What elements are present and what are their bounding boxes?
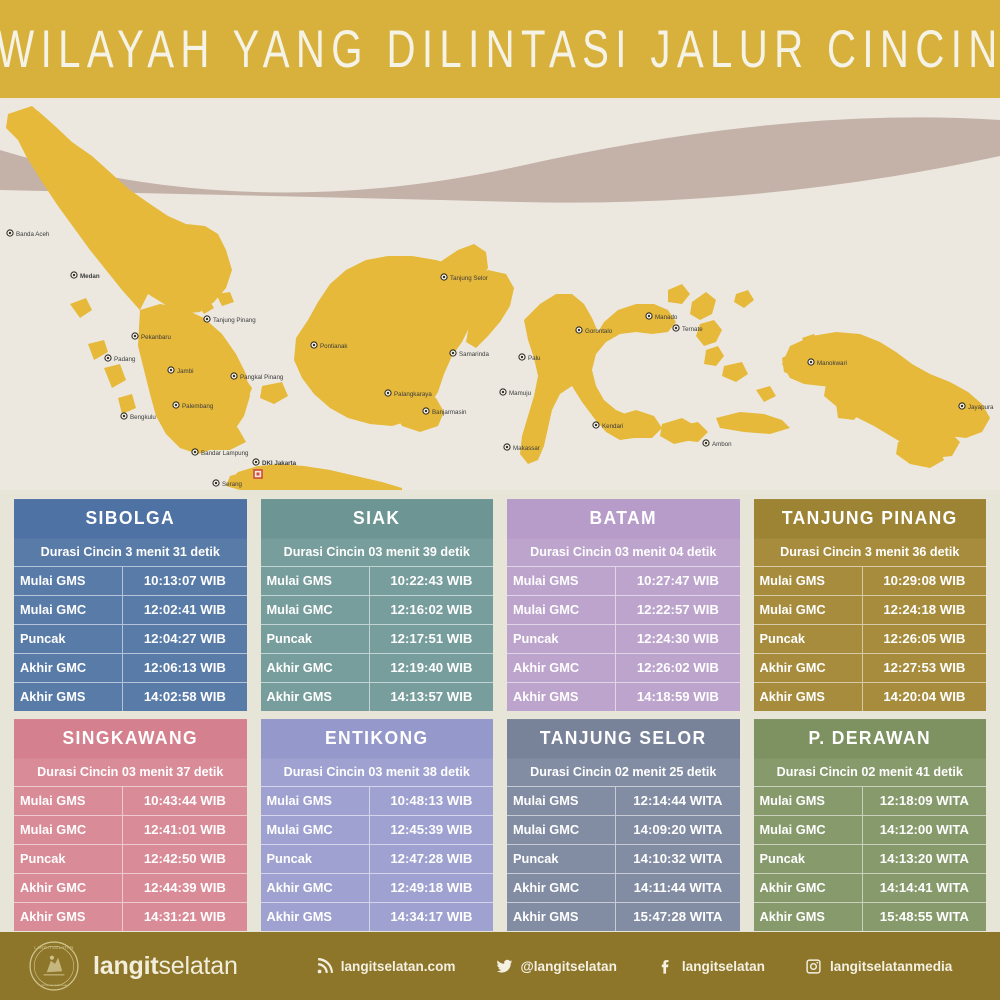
row-value: 14:13:20 WITA — [863, 845, 986, 873]
city-label: Jayapura — [968, 404, 994, 411]
city-marker — [519, 354, 525, 360]
city-marker — [121, 413, 127, 419]
row-label: Akhir GMS — [507, 903, 616, 931]
row-value: 14:11:44 WITA — [616, 874, 739, 902]
row-value: 10:29:08 WIB — [863, 567, 986, 595]
svg-text:Astronomi Indonesia: Astronomi Indonesia — [41, 983, 67, 987]
timing-card: P. DERAWANDurasi Cincin 02 menit 41 deti… — [754, 720, 987, 931]
row-value: 12:06:13 WIB — [123, 654, 246, 682]
table-row: Mulai GMC12:22:57 WIB — [507, 595, 740, 624]
city-label: Palu — [528, 355, 541, 362]
rss-icon — [316, 958, 333, 975]
table-row: Akhir GMC14:14:41 WITA — [754, 873, 987, 902]
row-value: 10:13:07 WIB — [123, 567, 246, 595]
table-row: Mulai GMS10:29:08 WIB — [754, 566, 987, 595]
city-label: Pangkal Pinang — [240, 374, 284, 381]
city-label: Palembang — [182, 403, 214, 410]
row-value: 12:24:30 WIB — [616, 625, 739, 653]
row-label: Mulai GMC — [507, 816, 616, 844]
row-value: 12:26:02 WIB — [616, 654, 739, 682]
table-row: Puncak14:13:20 WITA — [754, 844, 987, 873]
card-city-title: TANJUNG PINANG — [754, 499, 987, 539]
table-row: Mulai GMS10:13:07 WIB — [14, 566, 247, 595]
row-value: 10:43:44 WIB — [123, 787, 246, 815]
table-row: Akhir GMS14:31:21 WIB — [14, 902, 247, 931]
timing-card: ENTIKONGDurasi Cincin 03 menit 38 detikM… — [261, 720, 494, 931]
social-link[interactable]: langitselatan.com — [316, 958, 456, 975]
table-row: Mulai GMC12:16:02 WIB — [261, 595, 494, 624]
city-marker — [311, 342, 317, 348]
row-label: Mulai GMS — [261, 787, 370, 815]
facebook-icon — [657, 958, 674, 975]
city-label: Samarinda — [459, 351, 489, 358]
table-row: Akhir GMS14:13:57 WIB — [261, 682, 494, 711]
table-row: Puncak14:10:32 WITA — [507, 844, 740, 873]
social-link-label: langitselatan.com — [341, 959, 456, 974]
city-marker — [71, 272, 77, 278]
city-marker — [192, 449, 198, 455]
row-value: 12:45:39 WIB — [370, 816, 493, 844]
table-row: Mulai GMS10:22:43 WIB — [261, 566, 494, 595]
table-row: Akhir GMC12:06:13 WIB — [14, 653, 247, 682]
row-label: Akhir GMS — [14, 903, 123, 931]
row-label: Akhir GMC — [14, 654, 123, 682]
city-marker — [504, 444, 510, 450]
table-row: Puncak12:47:28 WIB — [261, 844, 494, 873]
table-row: Akhir GMS14:18:59 WIB — [507, 682, 740, 711]
row-value: 12:26:05 WIB — [863, 625, 986, 653]
row-label: Akhir GMC — [507, 874, 616, 902]
card-city-title: SIAK — [261, 499, 494, 539]
row-value: 10:27:47 WIB — [616, 567, 739, 595]
city-label: Palangkaraya — [394, 391, 432, 398]
row-label: Puncak — [261, 625, 370, 653]
row-label: Puncak — [14, 845, 123, 873]
card-city-title: P. DERAWAN — [754, 719, 987, 759]
city-label: Makassar — [513, 445, 540, 452]
row-label: Mulai GMC — [507, 596, 616, 624]
row-label: Akhir GMS — [754, 683, 863, 711]
city-label: Tanjung Pinang — [213, 317, 256, 324]
row-label: Mulai GMC — [14, 816, 123, 844]
city-marker — [500, 389, 506, 395]
row-value: 12:41:01 WIB — [123, 816, 246, 844]
table-row: Akhir GMS15:47:28 WITA — [507, 902, 740, 931]
table-row: Puncak12:24:30 WIB — [507, 624, 740, 653]
city-label: Ambon — [712, 441, 732, 448]
city-label: Serang — [222, 481, 243, 488]
city-marker — [703, 440, 709, 446]
row-value: 12:44:39 WIB — [123, 874, 246, 902]
row-value: 12:04:27 WIB — [123, 625, 246, 653]
row-label: Mulai GMC — [261, 816, 370, 844]
row-label: Akhir GMS — [261, 903, 370, 931]
card-city-title: SINGKAWANG — [14, 719, 247, 759]
timing-card: BATAMDurasi Cincin 03 menit 04 detikMula… — [507, 500, 740, 711]
table-row: Mulai GMS12:18:09 WITA — [754, 786, 987, 815]
table-row: Akhir GMS15:48:55 WITA — [754, 902, 987, 931]
table-row: Mulai GMC12:45:39 WIB — [261, 815, 494, 844]
city-marker — [450, 350, 456, 356]
row-value: 15:47:28 WITA — [616, 903, 739, 931]
social-link-label: langitselatanmedia — [830, 959, 952, 974]
table-row: Mulai GMC12:41:01 WIB — [14, 815, 247, 844]
row-label: Akhir GMC — [754, 874, 863, 902]
row-value: 12:42:50 WIB — [123, 845, 246, 873]
card-city-title: BATAM — [507, 499, 740, 539]
row-label: Akhir GMC — [261, 654, 370, 682]
city-marker — [105, 355, 111, 361]
table-row: Akhir GMS14:34:17 WIB — [261, 902, 494, 931]
row-value: 10:48:13 WIB — [370, 787, 493, 815]
row-label: Puncak — [14, 625, 123, 653]
city-label: Medan — [80, 273, 100, 280]
social-link[interactable]: langitselatan — [657, 958, 765, 975]
row-value: 12:17:51 WIB — [370, 625, 493, 653]
timing-card: TANJUNG SELORDurasi Cincin 02 menit 25 d… — [507, 720, 740, 931]
timing-card: SIAKDurasi Cincin 03 menit 39 detikMulai… — [261, 500, 494, 711]
social-link-label: langitselatan — [682, 959, 765, 974]
card-duration: Durasi Cincin 03 menit 39 detik — [261, 538, 494, 566]
row-value: 15:48:55 WITA — [863, 903, 986, 931]
timing-card: TANJUNG PINANGDurasi Cincin 3 menit 36 d… — [754, 500, 987, 711]
table-row: Akhir GMC12:19:40 WIB — [261, 653, 494, 682]
row-label: Puncak — [261, 845, 370, 873]
city-marker — [7, 230, 13, 236]
table-row: Akhir GMS14:02:58 WIB — [14, 682, 247, 711]
row-label: Akhir GMC — [261, 874, 370, 902]
twitter-icon — [496, 958, 513, 975]
brand-light: selatan — [158, 952, 237, 980]
card-duration: Durasi Cincin 02 menit 25 detik — [507, 758, 740, 786]
row-label: Puncak — [507, 625, 616, 653]
card-duration: Durasi Cincin 03 menit 37 detik — [14, 758, 247, 786]
table-row: Puncak12:17:51 WIB — [261, 624, 494, 653]
brand-block: LANGITSELATAN Astronomi Indonesia langit… — [28, 940, 238, 992]
table-row: Puncak12:26:05 WIB — [754, 624, 987, 653]
row-value: 12:47:28 WIB — [370, 845, 493, 873]
city-marker — [132, 333, 138, 339]
row-value: 12:19:40 WIB — [370, 654, 493, 682]
row-value: 12:24:18 WIB — [863, 596, 986, 624]
row-value: 14:10:32 WITA — [616, 845, 739, 873]
row-value: 12:02:41 WIB — [123, 596, 246, 624]
row-label: Akhir GMC — [14, 874, 123, 902]
city-label: Kendari — [602, 423, 623, 430]
row-label: Akhir GMS — [261, 683, 370, 711]
city-marker — [646, 313, 652, 319]
timing-card: SIBOLGADurasi Cincin 3 menit 31 detikMul… — [14, 500, 247, 711]
brand-wordmark: langitselatan — [93, 952, 238, 981]
city-marker — [204, 316, 210, 322]
table-row: Mulai GMC14:09:20 WITA — [507, 815, 740, 844]
city-marker — [253, 459, 259, 465]
row-value: 14:02:58 WIB — [123, 683, 246, 711]
card-duration: Durasi Cincin 3 menit 31 detik — [14, 538, 247, 566]
row-label: Mulai GMS — [507, 787, 616, 815]
table-row: Mulai GMS10:43:44 WIB — [14, 786, 247, 815]
infographic-page: WILAYAH YANG DILINTASI JALUR CINCIN — [0, 0, 1000, 1000]
indonesia-map: Banda AcehMedanPekanbaruPadangJambiBengk… — [0, 98, 1000, 490]
social-link[interactable]: langitselatanmedia — [805, 958, 952, 975]
row-label: Mulai GMS — [507, 567, 616, 595]
table-row: Akhir GMC12:27:53 WIB — [754, 653, 987, 682]
row-value: 14:09:20 WITA — [616, 816, 739, 844]
table-row: Akhir GMC12:49:18 WIB — [261, 873, 494, 902]
city-label: Bandar Lampung — [201, 450, 249, 457]
city-label: Pekanbaru — [141, 334, 171, 341]
city-label: Mamuju — [509, 390, 532, 397]
map-panel: Banda AcehMedanPekanbaruPadangJambiBengk… — [0, 98, 1000, 490]
langitselatan-seal-icon: LANGITSELATAN Astronomi Indonesia — [28, 940, 80, 992]
city-label: Ternate — [682, 326, 703, 333]
row-value: 12:14:44 WITA — [616, 787, 739, 815]
row-value: 14:34:17 WIB — [370, 903, 493, 931]
row-label: Mulai GMS — [754, 787, 863, 815]
city-label: Manokwari — [817, 360, 847, 367]
row-label: Akhir GMS — [14, 683, 123, 711]
svg-text:LANGITSELATAN: LANGITSELATAN — [34, 945, 73, 950]
row-value: 10:22:43 WIB — [370, 567, 493, 595]
page-title: WILAYAH YANG DILINTASI JALUR CINCIN — [0, 19, 1000, 79]
card-duration: Durasi Cincin 3 menit 36 detik — [754, 538, 987, 566]
city-marker — [231, 373, 237, 379]
row-label: Akhir GMC — [754, 654, 863, 682]
row-label: Akhir GMS — [507, 683, 616, 711]
city-marker — [423, 408, 429, 414]
table-row: Akhir GMC12:26:02 WIB — [507, 653, 740, 682]
row-label: Mulai GMC — [261, 596, 370, 624]
city-label: Banda Aceh — [16, 231, 50, 238]
row-label: Mulai GMS — [754, 567, 863, 595]
title-bar: WILAYAH YANG DILINTASI JALUR CINCIN — [0, 0, 1000, 98]
table-row: Akhir GMS14:20:04 WIB — [754, 682, 987, 711]
card-duration: Durasi Cincin 03 menit 04 detik — [507, 538, 740, 566]
row-value: 14:13:57 WIB — [370, 683, 493, 711]
row-value: 14:14:41 WITA — [863, 874, 986, 902]
row-label: Mulai GMS — [14, 787, 123, 815]
row-value: 12:49:18 WIB — [370, 874, 493, 902]
city-label: DKI Jakarta — [262, 460, 297, 467]
city-label: Padang — [114, 356, 136, 363]
city-label: Jambi — [177, 368, 194, 375]
table-row: Akhir GMC12:44:39 WIB — [14, 873, 247, 902]
city-marker — [441, 274, 447, 280]
row-value: 14:20:04 WIB — [863, 683, 986, 711]
city-label: Bengkulu — [130, 414, 156, 421]
capital-marker-dot — [257, 473, 260, 476]
card-duration: Durasi Cincin 03 menit 38 detik — [261, 758, 494, 786]
row-label: Akhir GMS — [754, 903, 863, 931]
row-value: 14:12:00 WITA — [863, 816, 986, 844]
instagram-icon — [805, 958, 822, 975]
table-row: Mulai GMS12:14:44 WITA — [507, 786, 740, 815]
row-label: Mulai GMC — [14, 596, 123, 624]
brand-bold: langit — [93, 952, 158, 980]
table-row: Puncak12:42:50 WIB — [14, 844, 247, 873]
social-link-label: @langitselatan — [521, 959, 617, 974]
city-marker — [168, 367, 174, 373]
city-timing-cards: SIBOLGADurasi Cincin 3 menit 31 detikMul… — [0, 500, 1000, 931]
row-label: Puncak — [754, 625, 863, 653]
row-value: 12:16:02 WIB — [370, 596, 493, 624]
row-label: Akhir GMC — [507, 654, 616, 682]
footer-bar: LANGITSELATAN Astronomi Indonesia langit… — [0, 932, 1000, 1000]
city-marker — [173, 402, 179, 408]
city-marker — [576, 327, 582, 333]
table-row: Mulai GMC14:12:00 WITA — [754, 815, 987, 844]
table-row: Mulai GMC12:24:18 WIB — [754, 595, 987, 624]
row-label: Mulai GMC — [754, 816, 863, 844]
city-label: Manado — [655, 314, 678, 321]
table-row: Mulai GMC12:02:41 WIB — [14, 595, 247, 624]
row-label: Puncak — [754, 845, 863, 873]
row-value: 12:22:57 WIB — [616, 596, 739, 624]
table-row: Mulai GMS10:48:13 WIB — [261, 786, 494, 815]
row-label: Mulai GMS — [14, 567, 123, 595]
row-value: 14:18:59 WIB — [616, 683, 739, 711]
city-marker — [808, 359, 814, 365]
city-marker — [673, 325, 679, 331]
city-label: Pontianak — [320, 343, 348, 350]
card-duration: Durasi Cincin 02 menit 41 detik — [754, 758, 987, 786]
city-marker — [385, 390, 391, 396]
city-label: Tanjung Selor — [450, 275, 488, 282]
row-value: 12:18:09 WITA — [863, 787, 986, 815]
row-value: 14:31:21 WIB — [123, 903, 246, 931]
row-label: Mulai GMS — [261, 567, 370, 595]
city-label: Banjarmasin — [432, 409, 467, 416]
row-value: 12:27:53 WIB — [863, 654, 986, 682]
card-city-title: TANJUNG SELOR — [507, 719, 740, 759]
row-label: Mulai GMC — [754, 596, 863, 624]
row-label: Puncak — [507, 845, 616, 873]
timing-card: SINGKAWANGDurasi Cincin 03 menit 37 deti… — [14, 720, 247, 931]
card-city-title: SIBOLGA — [14, 499, 247, 539]
table-row: Mulai GMS10:27:47 WIB — [507, 566, 740, 595]
city-marker — [593, 422, 599, 428]
table-row: Puncak12:04:27 WIB — [14, 624, 247, 653]
city-marker — [213, 480, 219, 486]
card-city-title: ENTIKONG — [261, 719, 494, 759]
city-label: Gorontalo — [585, 328, 613, 335]
table-row: Akhir GMC14:11:44 WITA — [507, 873, 740, 902]
social-links: langitselatan.com@langitselatanlangitsel… — [316, 958, 953, 975]
social-link[interactable]: @langitselatan — [496, 958, 617, 975]
city-marker — [959, 403, 965, 409]
